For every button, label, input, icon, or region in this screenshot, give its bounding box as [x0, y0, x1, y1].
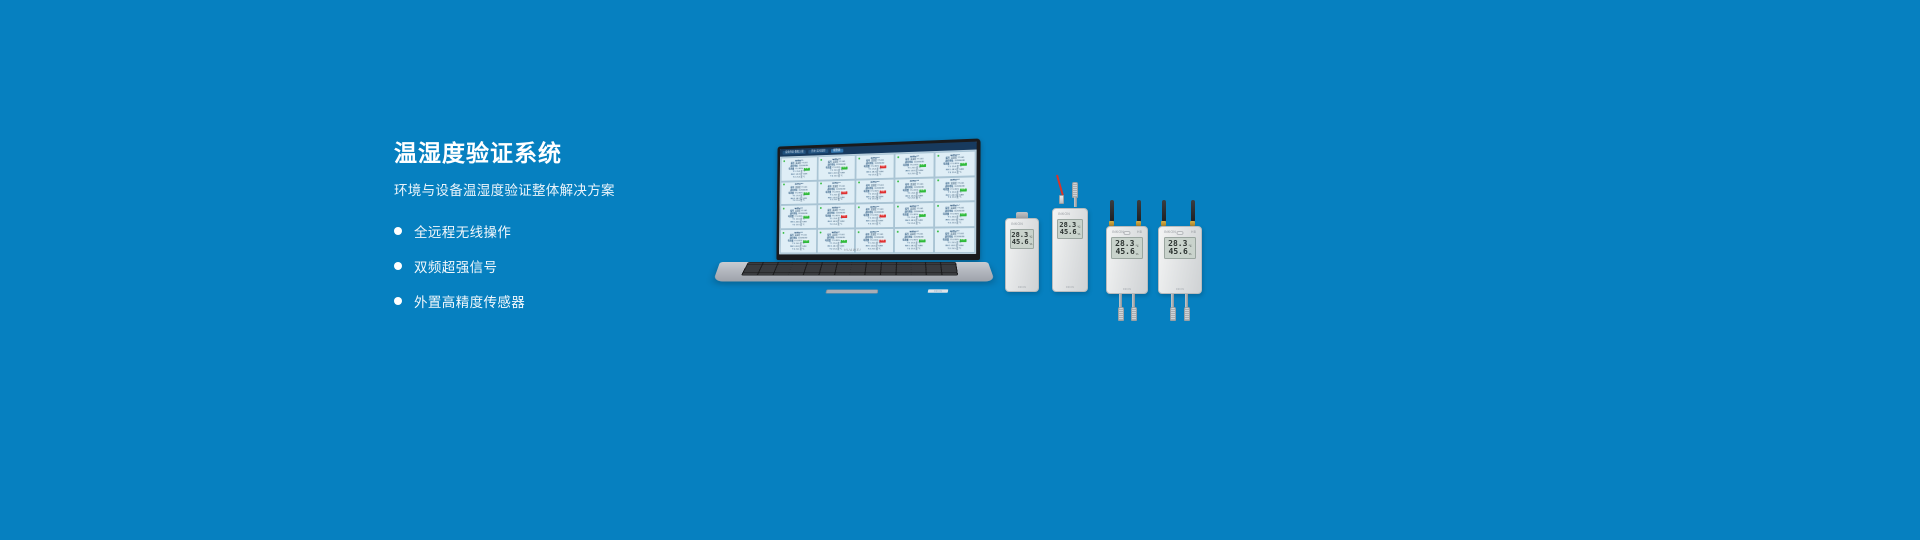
device-recorder-dual-antenna-b: INKONH828.3℃45.6%INKON [1158, 192, 1202, 294]
row-value: 25.5 度 ℃ [833, 224, 842, 227]
lcd-reading-line: 45.6% [1060, 229, 1081, 236]
sensor-card-grid: 监测点01编号温湿度 YT-001通讯地址112030030电池量77.0 85… [779, 150, 977, 255]
status-dot-icon [936, 230, 938, 232]
keyboard-key[interactable] [742, 273, 758, 275]
row-key: T 2 [830, 224, 833, 227]
sensor-data-row: T 225.5 度 ℃ [936, 222, 973, 225]
row-value: 25.5 度 ℃ [952, 248, 962, 251]
screen-bottombar: 查询开始记录导出数据首页12末页系统设置 [779, 254, 976, 255]
row-value: 25.5 度 ℃ [796, 176, 805, 179]
probe-cable-icon [1056, 175, 1064, 197]
device-body: INKONH828.3℃45.6%INKON [1106, 226, 1148, 294]
status-dot-icon [820, 158, 822, 160]
device-brand-label: INKON [1011, 222, 1023, 226]
feature-label: 全远程无线操作 [414, 221, 511, 241]
antenna-icon [1191, 200, 1195, 222]
device-brand-label: INKON [1164, 230, 1176, 234]
screen-tab[interactable]: 设备列表 数据上报 [783, 150, 807, 155]
feature-item: 全远程无线操作 [394, 221, 724, 241]
row-key: T 2 [868, 248, 871, 251]
lcd-value: 45.6 [1012, 239, 1029, 246]
device-footer-label: INKON [1123, 288, 1131, 293]
keyboard-key[interactable] [804, 273, 819, 275]
sensor-card-title: 监测点16 [782, 231, 816, 234]
status-dot-icon [782, 232, 784, 234]
sensor-data-row: T 225.5 度 ℃ [936, 248, 973, 251]
sensor-data-row: T 225.5 度 ℃ [936, 171, 973, 175]
probe-stem-icon [1074, 197, 1077, 207]
status-dot-icon [819, 207, 821, 209]
status-dot-icon [857, 206, 859, 208]
keyboard-key[interactable] [942, 273, 957, 275]
status-dot-icon [783, 160, 785, 162]
keyboard-key[interactable] [789, 273, 804, 275]
status-dot-icon [896, 231, 898, 233]
lcd-unit: % [1078, 233, 1081, 237]
sensor-data-row: T 225.5 度 ℃ [782, 200, 816, 203]
row-key: T 2 [830, 200, 833, 203]
lcd-value: 45.6 [1169, 248, 1188, 256]
bullet-dot-icon [394, 262, 402, 270]
page-title: 温湿度验证系统 [394, 140, 724, 168]
sensor-data-row: T 225.5 度 ℃ [857, 223, 892, 226]
row-key: T 2 [830, 175, 833, 178]
sensor-card[interactable]: 监测点20编号温湿度 YT-001通讯地址112030030电池量77.0 85… [934, 227, 975, 253]
probe-connector-icon [1059, 195, 1064, 204]
lcd-unit: % [1136, 253, 1139, 257]
sensor-card[interactable]: 监测点14编号温湿度 YT-001通讯地址112030030电池量77.0 85… [894, 202, 934, 228]
feature-label: 外置高精度传感器 [414, 291, 525, 311]
sensor-card[interactable]: 监测点12编号温湿度 YT-001通讯地址112030030电池量77.0 85… [817, 204, 855, 229]
lcd-display: 28.3℃45.6% [1057, 219, 1084, 239]
device-brand-row: INKON [1053, 209, 1087, 216]
lcd-unit: % [1030, 243, 1033, 247]
sensor-data-row: T 225.5 度 ℃ [819, 199, 853, 203]
lcd-reading-line: 45.6% [1013, 239, 1032, 246]
sensor-data-row: T 225.5 度 ℃ [857, 174, 892, 178]
laptop-screen: 设备列表 数据上报历史 实时监控报警器 监测点01编号温湿度 YT-001通讯地… [779, 142, 977, 255]
screen-tab[interactable]: 报警器 [831, 148, 843, 153]
page-subtitle: 环境与设备温湿度验证整体解决方案 [394, 182, 724, 200]
row-key: T 2 [868, 174, 871, 177]
probe-sensor-cap-icon [1170, 307, 1176, 321]
status-dot-icon [937, 205, 939, 207]
product-banner: 温湿度验证系统 环境与设备温湿度验证整体解决方案 全远程无线操作双频超强信号外置… [0, 0, 1920, 540]
row-value: 25.5 度 ℃ [872, 223, 881, 226]
lcd-unit: % [1189, 253, 1192, 257]
sensor-data-row: T 225.5 度 ℃ [896, 198, 932, 202]
row-value: 25.5 度 ℃ [952, 197, 962, 200]
device-footer-label: INKON [1176, 288, 1184, 293]
keyboard-row [742, 273, 957, 275]
keyboard-key[interactable] [835, 273, 850, 275]
row-key: T 2 [908, 173, 911, 176]
row-value: 25.5 度 ℃ [911, 248, 920, 251]
device-footer-label: INKON [1066, 286, 1074, 291]
probe-stem-icon-2 [1185, 294, 1188, 308]
probe-stem-icon [1119, 294, 1122, 308]
probe-stem-icon-2 [1132, 294, 1135, 308]
keyboard-key[interactable] [896, 273, 911, 275]
row-value: 25.5 度 ℃ [833, 248, 842, 251]
device-recorder-small: INKON28.3℃45.6%INKON [1005, 184, 1039, 292]
laptop-illustration: 设备列表 数据上报历史 实时监控报警器 监测点01编号温湿度 YT-001通讯地… [718, 138, 990, 298]
laptop-lid: 设备列表 数据上报历史 实时监控报警器 监测点01编号温湿度 YT-001通讯地… [776, 138, 980, 260]
sensor-card[interactable]: 监测点16编号温湿度 YT-001通讯地址112030030电池量77.0 85… [780, 229, 817, 253]
status-dot-icon [782, 208, 784, 210]
probe-sensor-cap-icon [1072, 182, 1078, 198]
sensor-data-row: T 225.5 度 ℃ [819, 224, 853, 227]
laptop-brand-label: HUAWEI [844, 248, 862, 252]
screen-tab[interactable]: 历史 实时监控 [809, 149, 828, 154]
row-value: 25.5 度 ℃ [911, 198, 920, 201]
sensor-data-row: T 225.5 度 ℃ [896, 223, 932, 226]
device-footer-label: INKON [1018, 286, 1026, 291]
sensor-data-row: T 225.5 度 ℃ [896, 172, 932, 176]
keyboard-key[interactable] [881, 273, 896, 275]
row-value: 25.5 度 ℃ [834, 199, 843, 202]
sensor-data-row: T 225.5 度 ℃ [782, 249, 816, 252]
keyboard-key[interactable] [927, 273, 942, 275]
sensor-data-row: T 225.5 度 ℃ [819, 175, 853, 179]
device-recorder-probe: INKON28.3℃45.6%INKON [1052, 174, 1088, 292]
lanyard-hole-icon [1177, 231, 1184, 235]
sensor-data-row: T 225.5 度 ℃ [782, 176, 816, 180]
device-brand-label: INKON [1112, 230, 1124, 234]
lcd-value: 45.6 [1116, 248, 1135, 256]
antenna-icon [1110, 200, 1114, 222]
row-key: T 2 [792, 249, 795, 252]
keyboard-key[interactable] [773, 273, 788, 275]
sensor-data-row: T 225.5 度 ℃ [782, 224, 816, 227]
lanyard-hole-icon [1124, 231, 1131, 235]
keyboard-key[interactable] [850, 273, 865, 275]
lcd-value: 45.6 [1060, 229, 1077, 236]
row-value: 25.5 度 ℃ [952, 222, 962, 225]
lcd-display: 28.3℃45.6% [1010, 229, 1035, 249]
antenna-icon [1137, 200, 1141, 222]
sensor-card[interactable]: 监测点09编号温湿度 YT-001通讯地址112030030电池量77.0 85… [894, 177, 934, 203]
sensor-data-row: T 225.5 度 ℃ [896, 248, 932, 251]
row-key: T 2 [907, 223, 910, 226]
feature-label: 双频超强信号 [414, 256, 497, 276]
bullet-dot-icon [394, 297, 402, 305]
sensor-card[interactable]: 监测点03编号温湿度 YT-001通讯地址112030030电池量77.0 85… [855, 153, 894, 179]
laptop-sticker: INKON [928, 289, 949, 292]
sensor-card[interactable]: 监测点05编号温湿度 YT-001通讯地址112030030电池量77.0 85… [934, 151, 975, 178]
antenna-icon [1162, 200, 1166, 222]
row-key: T 2 [948, 172, 951, 175]
status-dot-icon [897, 206, 899, 208]
row-key: T 2 [907, 248, 910, 251]
sensor-card[interactable]: 监测点15编号温湿度 YT-001通讯地址112030030电池量77.0 85… [934, 202, 975, 228]
status-dot-icon [858, 157, 860, 159]
row-value: 25.5 度 ℃ [952, 172, 962, 175]
status-dot-icon [857, 231, 859, 233]
lcd-display: 28.3℃45.6% [1164, 237, 1197, 259]
device-body: INKON28.3℃45.6%INKON [1052, 208, 1088, 292]
sensor-card[interactable]: 监测点04编号温湿度 YT-001通讯地址112030030电池量77.0 85… [894, 152, 934, 178]
row-value: 25.5 度 ℃ [872, 248, 881, 251]
probe-stem-icon [1171, 294, 1174, 308]
sensor-card[interactable]: 监测点13编号温湿度 YT-001通讯地址112030030电池量77.0 85… [855, 203, 894, 228]
row-key: T 2 [948, 223, 951, 226]
probe-sensor-cap-icon-2 [1184, 307, 1190, 321]
row-key: T 2 [793, 176, 796, 179]
laptop-trackpad[interactable] [825, 290, 878, 294]
row-value: 25.5 度 ℃ [872, 199, 881, 202]
keyboard-key[interactable] [912, 273, 927, 275]
sensor-card[interactable]: 监测点07编号温湿度 YT-001通讯地址112030030电池量77.0 85… [817, 179, 855, 204]
keyboard-key[interactable] [865, 273, 880, 275]
sensor-card[interactable]: 监测点19编号温湿度 YT-001通讯地址112030030电池量77.0 85… [894, 228, 934, 253]
sensor-card[interactable]: 监测点01编号温湿度 YT-001通讯地址112030030电池量77.0 85… [781, 156, 818, 181]
device-body: INKONH828.3℃45.6%INKON [1158, 226, 1202, 294]
device-brand-row: INKON [1006, 219, 1038, 226]
row-value: 25.5 度 ℃ [872, 174, 881, 177]
row-value: 25.5 度 ℃ [912, 173, 921, 176]
sensor-data-row: T 225.5 度 ℃ [857, 248, 892, 251]
device-body: INKON28.3℃45.6%INKON [1005, 218, 1039, 292]
sensor-card-title: 监测点20 [936, 230, 973, 233]
sensor-data-row: T 225.5 度 ℃ [936, 197, 973, 201]
device-recorder-dual-antenna-a: INKONH828.3℃45.6%INKON [1106, 192, 1148, 294]
lcd-display: 28.3℃45.6% [1111, 237, 1142, 259]
sensor-card-title: 监测点18 [857, 231, 892, 234]
row-value: 25.5 度 ℃ [911, 223, 920, 226]
row-key: T 2 [948, 248, 951, 251]
row-key: T 2 [948, 197, 951, 200]
row-key: T 2 [868, 199, 871, 202]
row-key: T 2 [829, 249, 832, 252]
row-value: 25.5 度 ℃ [834, 175, 843, 178]
row-key: T 2 [868, 224, 871, 227]
status-dot-icon [937, 154, 939, 156]
bullet-dot-icon [394, 227, 402, 235]
device-model-label: H8 [1137, 230, 1142, 234]
row-key: T 2 [793, 200, 796, 203]
feature-item: 外置高精度传感器 [394, 291, 724, 311]
probe-sensor-cap-icon-2 [1131, 307, 1137, 321]
lcd-reading-line: 45.6% [1167, 248, 1194, 256]
feature-item: 双频超强信号 [394, 256, 724, 276]
laptop-keyboard[interactable] [741, 262, 958, 276]
row-value: 25.5 度 ℃ [796, 249, 805, 252]
sensor-card[interactable]: 监测点02编号温湿度 YT-001通讯地址112030030电池量77.0 85… [818, 155, 856, 181]
keyboard-key[interactable] [819, 273, 834, 275]
status-dot-icon [819, 231, 821, 233]
sensor-card[interactable]: 监测点11编号温湿度 YT-001通讯地址112030030电池量77.0 85… [780, 205, 817, 230]
status-dot-icon [897, 156, 899, 158]
banner-text-block: 温湿度验证系统 环境与设备温湿度验证整体解决方案 全远程无线操作双频超强信号外置… [394, 140, 724, 326]
sensor-card-title: 监测点19 [896, 230, 932, 233]
lcd-reading-line: 45.6% [1114, 248, 1139, 256]
keyboard-key[interactable] [758, 273, 773, 275]
sensor-card[interactable]: 监测点10编号温湿度 YT-001通讯地址112030030电池量77.0 85… [934, 176, 975, 202]
row-value: 25.5 度 ℃ [796, 224, 805, 227]
sensor-card[interactable]: 监测点06编号温湿度 YT-001通讯地址112030030电池量77.0 85… [780, 180, 817, 205]
sensor-data-row: T 225.5 度 ℃ [857, 198, 892, 202]
device-brand-label: INKON [1058, 212, 1070, 216]
feature-list: 全远程无线操作双频超强信号外置高精度传感器 [394, 221, 724, 311]
sensor-card[interactable]: 监测点08编号温湿度 YT-001通讯地址112030030电池量77.0 85… [855, 178, 894, 204]
device-model-label: H8 [1191, 230, 1196, 234]
row-key: T 2 [908, 198, 911, 201]
sensor-card-title: 监测点17 [819, 231, 853, 234]
row-key: T 2 [792, 225, 795, 228]
row-value: 25.5 度 ℃ [796, 200, 805, 203]
probe-sensor-cap-icon [1118, 307, 1124, 321]
